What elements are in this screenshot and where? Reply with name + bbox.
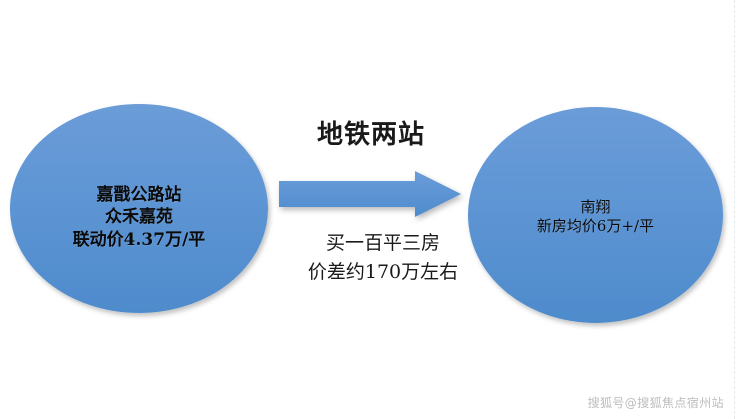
node-origin-ellipse: 嘉戬公路站 众禾嘉苑 联动价4.37万/平 bbox=[10, 104, 268, 313]
connector-label-above: 地铁两站 bbox=[286, 120, 456, 151]
watermark-text: 搜狐号@搜狐焦点宿州站 bbox=[588, 394, 724, 411]
node-destination-label: 南翔 新房均价6万+/平 bbox=[537, 198, 654, 237]
node-origin-label: 嘉戬公路站 众禾嘉苑 联动价4.37万/平 bbox=[73, 184, 206, 250]
node-destination-ellipse: 南翔 新房均价6万+/平 bbox=[468, 107, 723, 323]
diagram-canvas: 嘉戬公路站 众禾嘉苑 联动价4.37万/平 地铁两站 买一百平三房 价差约170… bbox=[0, 0, 740, 419]
page-edge-guide-line bbox=[734, 0, 735, 419]
connector-arrow-right bbox=[279, 171, 461, 217]
connector-label-below: 买一百平三房 价差约170万左右 bbox=[283, 229, 483, 288]
arrow-shape-icon bbox=[279, 171, 461, 217]
